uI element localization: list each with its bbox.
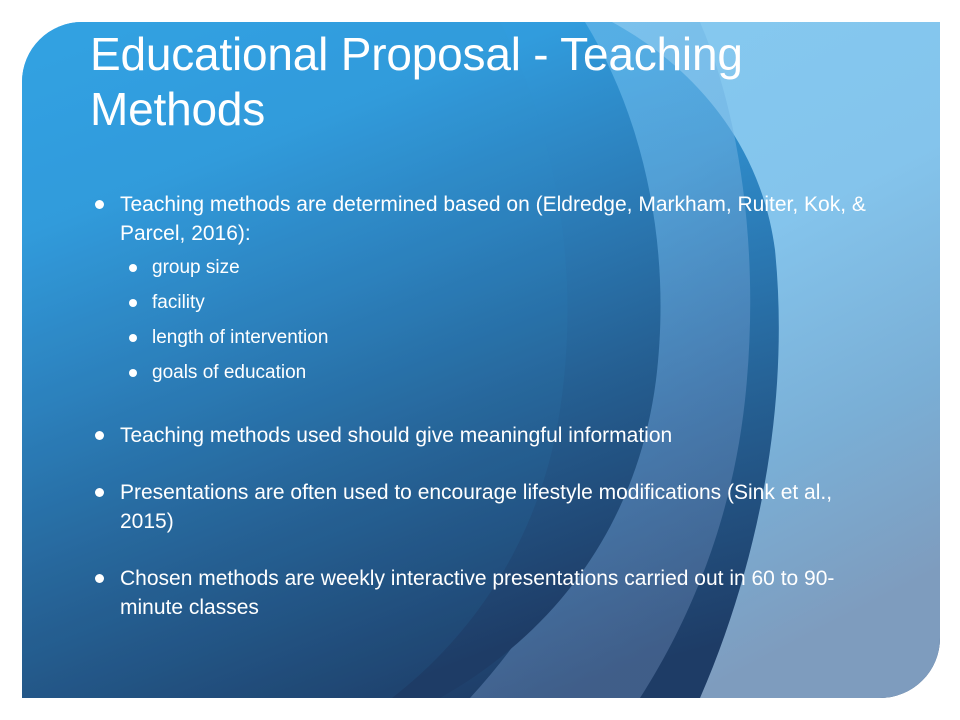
list-item: goals of education [120,360,888,385]
list-item: Teaching methods used should give meanin… [88,421,888,450]
list-item: group size [120,255,888,280]
bullet-text: group size [152,257,240,278]
bullet-dot-icon [95,574,104,583]
spacer [88,395,888,421]
list-item: length of intervention [120,325,888,350]
bullet-text: Presentations are often used to encourag… [120,478,888,536]
bullet-text: Teaching methods are determined based on… [120,190,888,248]
bullet-text: goals of education [152,362,306,383]
bullet-dot-icon [129,299,137,307]
bullet-dot-icon [129,334,137,342]
bullet-text: facility [152,292,205,313]
bullet-dot-icon [95,431,104,440]
bullet-list-level1: Teaching methods are determined based on… [88,190,888,622]
spacer [88,540,888,564]
list-item: facility [120,290,888,315]
list-item: Teaching methods are determined based on… [88,190,888,385]
bullet-dot-icon [95,200,104,209]
list-item: Presentations are often used to encourag… [88,478,888,536]
bullet-list-level2: group size facility length of interventi… [120,255,888,385]
slide-body: Teaching methods are determined based on… [88,190,888,626]
bullet-dot-icon [129,264,137,272]
spacer [88,454,888,478]
bullet-dot-icon [95,488,104,497]
bullet-text: Teaching methods used should give meanin… [120,421,888,450]
list-item: Chosen methods are weekly interactive pr… [88,564,888,622]
bullet-dot-icon [129,369,137,377]
bullet-text: length of intervention [152,327,328,348]
bullet-text: Chosen methods are weekly interactive pr… [120,564,888,622]
page-title: Educational Proposal - Teaching Methods [90,27,850,137]
slide: Educational Proposal - Teaching Methods … [0,0,960,720]
